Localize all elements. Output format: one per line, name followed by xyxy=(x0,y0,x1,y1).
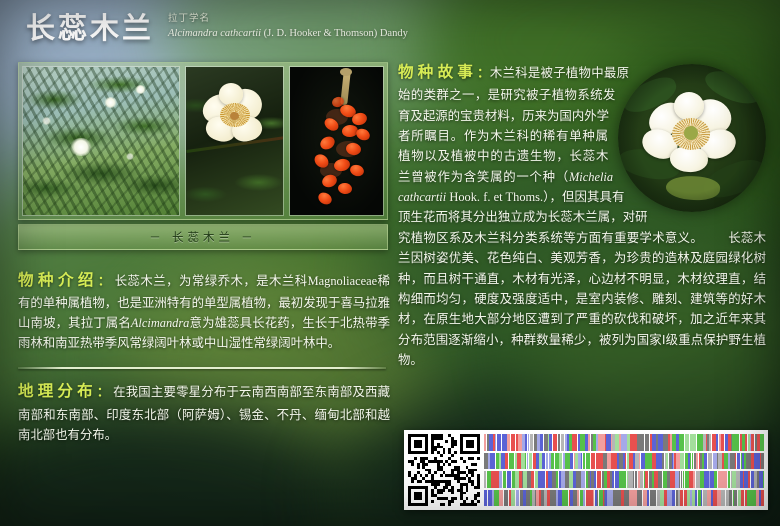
barcode-bar xyxy=(685,434,689,451)
barcode-bar xyxy=(505,453,508,470)
latin-binomial: Alcimandra cathcartii xyxy=(168,28,261,39)
latin-name-label: 拉丁学名 xyxy=(168,12,408,26)
species-story-colon: ： xyxy=(477,66,490,80)
left-column: － 长蕊木兰 － 物种介绍： 长蕊木兰，为常绿乔木，是木兰科Magnoliace… xyxy=(18,62,390,445)
barcode-bar xyxy=(734,490,737,507)
barcode-bar xyxy=(537,434,540,451)
barcode-bar xyxy=(612,471,614,488)
barcode-bar xyxy=(511,453,514,470)
distribution-text: 地理分布： 在我国主要零星分布于云南西南部至东南部及西藏南部和东南部、印度东北部… xyxy=(18,379,390,444)
flower-circle-photo[interactable] xyxy=(618,64,766,212)
flower-blob xyxy=(42,117,51,125)
intro-family-name: Magnoliaceae xyxy=(308,274,378,288)
barcode-bar xyxy=(704,453,707,470)
barcode-bar xyxy=(703,490,707,507)
flower-blob xyxy=(104,97,117,108)
page-title: 长蕊木兰 xyxy=(26,15,154,44)
barcode-row xyxy=(484,490,764,507)
barcode-bar xyxy=(581,471,584,488)
barcode-bar xyxy=(729,490,731,507)
fruit-cap xyxy=(340,68,352,76)
barcode-bar xyxy=(763,471,764,488)
barcode-bar xyxy=(732,434,736,451)
photo-leaf-texture xyxy=(23,67,179,215)
barcode-bar xyxy=(530,434,533,451)
barcode-bar xyxy=(598,434,600,451)
species-story-heading: 物种故事 xyxy=(398,64,477,81)
barcode-bar xyxy=(490,453,492,470)
barcode-bar xyxy=(681,434,684,451)
barcode-bar xyxy=(640,434,644,451)
barcode-bar xyxy=(542,453,545,470)
story-para1-part1: 木兰科是被子植物中最原始的类群之一，是研究被子植物系统发育及起源的宝贵材料，历来… xyxy=(398,66,629,184)
barcode-bar xyxy=(558,434,561,451)
flower-blob xyxy=(135,85,146,94)
barcode-bar xyxy=(536,453,538,470)
barcode-bar xyxy=(676,453,680,470)
species-intro-section: 物种介绍： 长蕊木兰，为常绿乔木，是木兰科Magnoliaceae稀有的单种属植… xyxy=(18,268,390,353)
poster-root: 长蕊木兰 拉丁学名 Alcimandra cathcartii (J. D. H… xyxy=(0,0,780,526)
barcode-bar xyxy=(583,453,585,470)
barcode-bar xyxy=(591,453,595,470)
latin-name-value: Alcimandra cathcartii (J. D. Hooker & Th… xyxy=(168,26,408,42)
barcode-bar xyxy=(672,490,675,507)
photo-gallery xyxy=(18,62,388,220)
dna-barcode xyxy=(484,434,764,506)
species-story-text: 物种故事：木兰科是被子植物中最原始的类群之一，是研究被子植物系统发育及起源的宝贵… xyxy=(398,60,766,370)
barcode-bar xyxy=(680,490,683,507)
intro-text-part1: 长蕊木兰，为常绿乔木，是木兰科 xyxy=(115,274,308,288)
barcode-bar xyxy=(700,471,704,488)
barcode-bar xyxy=(561,434,564,451)
barcode-bar xyxy=(499,490,503,507)
barcode-bar xyxy=(570,453,573,470)
species-intro-colon: ： xyxy=(98,274,111,288)
latin-name-block: 拉丁学名 Alcimandra cathcartii (J. D. Hooker… xyxy=(168,12,408,44)
barcode-bar xyxy=(693,471,695,488)
barcode-bar xyxy=(546,453,549,470)
barcode-bar xyxy=(692,434,696,451)
right-column: 物种故事：木兰科是被子植物中最原始的类群之一，是研究被子植物系统发育及起源的宝贵… xyxy=(398,60,766,370)
story-para2: 长蕊木兰因树姿优美、花色纯白、美观芳香，为珍贵的造林及庭园绿化树种，而且树干通直… xyxy=(398,231,766,367)
barcode-bar xyxy=(650,434,652,451)
barcode-bar xyxy=(680,453,684,470)
barcode-bar xyxy=(553,434,557,451)
barcode-bar xyxy=(549,434,552,451)
distribution-heading: 地理分布 xyxy=(18,383,97,400)
barcode-bar xyxy=(701,434,703,451)
barcode-bar xyxy=(499,471,502,488)
circle-photo-vignette xyxy=(618,64,766,212)
barcode-bar xyxy=(484,490,487,507)
stamen-center xyxy=(230,112,239,120)
barcode-bar xyxy=(723,471,727,488)
barcode-bar xyxy=(541,471,545,488)
story-synonym-authority: Hook. f. et Thoms. xyxy=(446,190,543,204)
barcode-bar xyxy=(741,490,744,507)
barcode-bar xyxy=(635,471,637,488)
barcode-bar xyxy=(525,434,528,451)
barcode-bar xyxy=(622,471,624,488)
barcode-bar xyxy=(721,490,725,507)
barcode-bar xyxy=(541,490,544,507)
barcode-bar xyxy=(751,434,754,451)
barcode-row xyxy=(484,434,764,451)
species-intro-heading: 物种介绍 xyxy=(18,272,98,289)
barcode-bar xyxy=(576,471,580,488)
barcode-bar xyxy=(583,490,586,507)
flower-closeup-photo[interactable] xyxy=(185,66,284,216)
barcode-bar xyxy=(716,434,719,451)
barcode-bar xyxy=(594,471,596,488)
barcode-bar xyxy=(577,490,580,507)
section-divider xyxy=(18,367,386,369)
gallery-caption-text: － 长蕊木兰 － xyxy=(149,229,256,245)
barcode-bar xyxy=(586,453,590,470)
barcode-bar xyxy=(728,471,731,488)
barcode-bar xyxy=(578,453,581,470)
barcode-row xyxy=(484,471,764,488)
barcode-bar xyxy=(484,471,486,488)
barcode-bar xyxy=(645,471,649,488)
barcode-bar xyxy=(547,490,550,507)
barcode-bar xyxy=(662,453,665,470)
qr-module xyxy=(477,503,480,506)
barcode-bar xyxy=(658,434,662,451)
latin-authority: (J. D. Hooker & Thomson) Dandy xyxy=(264,28,408,39)
barcode-bar xyxy=(487,434,489,451)
red-fruit-photo[interactable] xyxy=(289,66,384,216)
barcode-bar xyxy=(494,490,496,507)
barcode-bar xyxy=(507,471,511,488)
barcode-bar xyxy=(551,453,553,470)
species-intro-text: 物种介绍： 长蕊木兰，为常绿乔木，是木兰科Magnoliaceae稀有的单种属植… xyxy=(18,268,390,353)
barcode-bar xyxy=(511,434,515,451)
barcode-bar xyxy=(658,471,662,488)
poster-header: 长蕊木兰 拉丁学名 Alcimandra cathcartii (J. D. H… xyxy=(26,12,408,44)
barcode-bar xyxy=(653,490,656,507)
barcode-bar xyxy=(737,453,741,470)
barcode-bar xyxy=(663,434,667,451)
barcode-bar xyxy=(484,434,486,451)
barcode-bar xyxy=(531,471,534,488)
flower-blob xyxy=(126,153,134,160)
qr-code[interactable] xyxy=(408,434,480,506)
barcode-bar xyxy=(512,471,515,488)
barcode-bar xyxy=(641,453,645,470)
barcode-bar xyxy=(639,490,642,507)
barcode-bar xyxy=(585,434,588,451)
intro-genus-name: Alcimandra xyxy=(131,316,190,330)
barcode-bar xyxy=(599,471,602,488)
barcode-bar xyxy=(748,471,750,488)
barcode-bar xyxy=(529,453,532,470)
barcode-bar xyxy=(536,490,539,507)
barcode-bar xyxy=(647,490,650,507)
barcode-bar xyxy=(564,490,568,507)
barcode-bar xyxy=(555,453,559,470)
distribution-section: 地理分布： 在我国主要零星分布于云南西南部至东南部及西藏南部和东南部、印度东北部… xyxy=(18,379,390,444)
barcode-bar xyxy=(747,490,751,507)
barcode-bar xyxy=(745,434,747,451)
petal-shape xyxy=(219,83,243,105)
photo-dark-layer xyxy=(290,67,383,215)
distribution-colon: ： xyxy=(97,385,110,399)
barcode-bar xyxy=(507,434,510,451)
barcode-bar xyxy=(736,434,739,451)
barcode-bar xyxy=(540,434,543,451)
barcode-bar xyxy=(640,471,643,488)
barcode-bar xyxy=(503,471,507,488)
barcode-bar xyxy=(497,434,501,451)
barcode-bar xyxy=(645,434,649,451)
barcode-bar xyxy=(516,490,519,507)
gallery-caption: － 长蕊木兰 － xyxy=(18,224,388,250)
flower-blob xyxy=(70,138,92,156)
tree-in-bloom-photo[interactable] xyxy=(22,66,180,216)
barcode-bar xyxy=(721,434,724,451)
barcode-bar xyxy=(708,453,712,470)
barcode-bar xyxy=(709,434,712,451)
barcode-row xyxy=(484,453,764,470)
barcode-bar xyxy=(760,434,764,451)
code-panel xyxy=(404,430,768,510)
